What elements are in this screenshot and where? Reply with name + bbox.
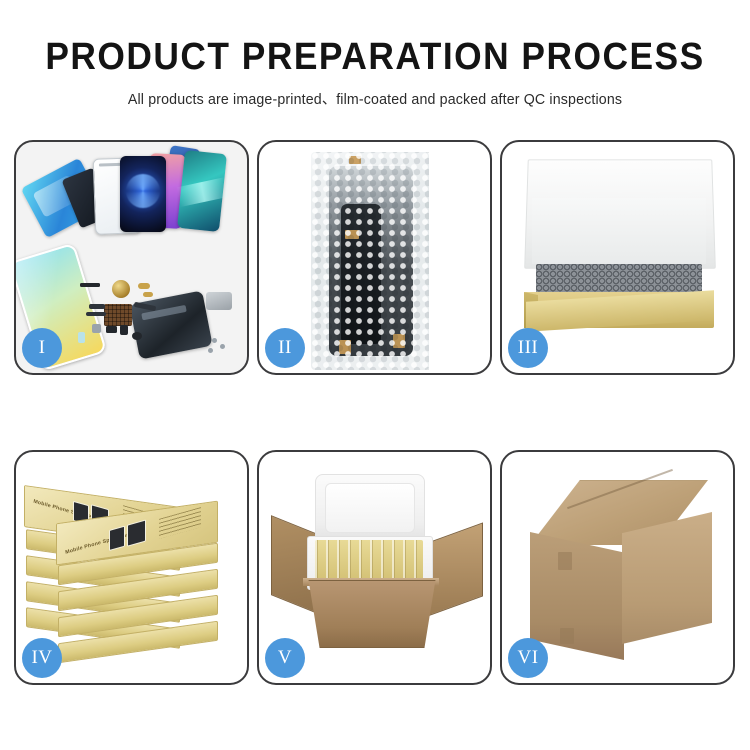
small-part-icon	[80, 283, 100, 287]
teal-phone-icon	[177, 150, 227, 232]
screw-2-icon	[220, 344, 225, 349]
carton-tape-bottom-icon	[560, 628, 574, 644]
battery-connector-icon	[120, 325, 128, 335]
box-product-image	[109, 526, 125, 551]
step-5-badge: V	[265, 638, 305, 678]
gold-connector-2-icon	[143, 292, 153, 297]
flex-cable-icon	[89, 304, 105, 309]
step-6-badge: VI	[508, 638, 548, 678]
camera-module-icon	[106, 326, 117, 333]
screw-3-icon	[208, 348, 213, 353]
step-2-badge: II	[265, 328, 305, 368]
bubble-texture-icon	[311, 152, 429, 370]
step-4-badge: IV	[22, 638, 62, 678]
carton-body-icon	[303, 580, 441, 648]
gold-connector-icon	[138, 283, 150, 289]
process-steps-grid: I II	[14, 140, 736, 685]
step-3-badge: III	[508, 328, 548, 368]
blue-display-phone-icon	[120, 156, 166, 232]
process-step-5[interactable]: V	[257, 450, 492, 685]
foam-lid-icon	[315, 474, 425, 544]
phone-back-housing-icon	[129, 290, 212, 359]
screw-icon	[212, 338, 217, 343]
speaker-component-icon	[112, 280, 130, 298]
carton-left-face-icon	[530, 532, 624, 660]
page-subtitle: All products are image-printed、film-coat…	[8, 88, 743, 109]
bubble-wrap-sleeve-icon	[311, 152, 429, 370]
process-step-4[interactable]: Mobile Phone Spare Parts Mobile Phone Sp…	[14, 450, 249, 685]
flex-cable-2-icon	[86, 312, 106, 316]
tool-icon	[206, 292, 232, 310]
process-step-3[interactable]: III	[500, 140, 735, 375]
page-title: PRODUCT PREPARATION PROCESS	[26, 38, 724, 78]
product-preparation-process-page: PRODUCT PREPARATION PROCESS All products…	[0, 0, 750, 750]
metal-bracket-icon	[92, 324, 101, 333]
sim-tray-icon	[78, 332, 85, 343]
carton-tape-left-icon	[558, 552, 572, 570]
process-step-1[interactable]: I	[14, 140, 249, 375]
box-lid-face-icon	[532, 198, 706, 264]
page-header: PRODUCT PREPARATION PROCESS All products…	[0, 38, 750, 109]
logic-board-icon	[104, 304, 132, 326]
process-step-6[interactable]: VI	[500, 450, 735, 685]
step-1-badge: I	[22, 328, 62, 368]
process-step-2[interactable]: II	[257, 140, 492, 375]
vibrator-icon	[132, 332, 142, 340]
carton-right-face-icon	[622, 512, 712, 644]
retail-boxes-inside-icon	[315, 540, 423, 580]
